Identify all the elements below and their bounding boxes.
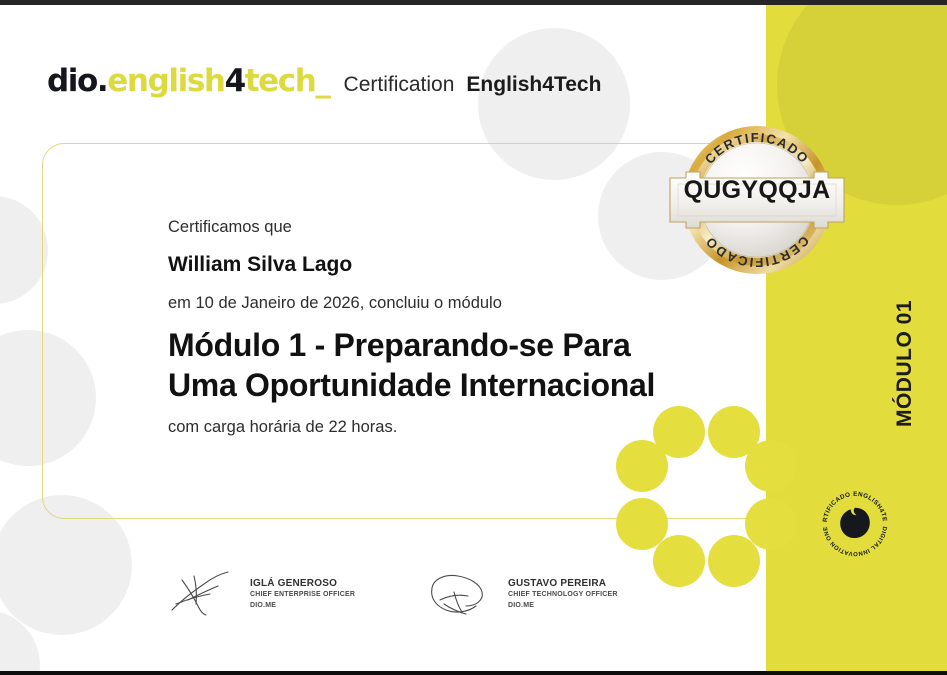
module-title: Módulo 1 - Preparando-se Para Uma Oportu…	[168, 325, 698, 406]
certification-stamp-icon: CERTIFICADO ENGLISH4TECH DIGITAL INNOVAT…	[818, 487, 892, 561]
signatory-org: DIO.ME	[250, 601, 355, 612]
decorative-dot	[745, 498, 797, 550]
intro-line: Certificamos que	[168, 218, 698, 237]
signatory-role: CHIEF TECHNOLOGY OFFICER	[508, 590, 618, 601]
signature-mark-icon	[166, 566, 242, 622]
brand-name: English4Tech	[466, 73, 601, 97]
signature-mark-icon	[424, 566, 500, 622]
certificate-body: Certificamos que William Silva Lago em 1…	[168, 218, 698, 437]
signatory-name: GUSTAVO PEREIRA	[508, 577, 618, 591]
decorative-circle	[0, 196, 48, 304]
gold-seal: CERTIFICADO CERTIFICADO QUGYQQJA	[664, 104, 850, 276]
bottom-edge-bar	[0, 671, 947, 675]
signatory-org: DIO.ME	[508, 601, 618, 612]
logo-english-text: english	[107, 63, 224, 99]
certification-label: Certification	[344, 73, 455, 97]
gold-seal-graphic: CERTIFICADO CERTIFICADO	[664, 104, 850, 276]
signatory-name: IGLÁ GENEROSO	[250, 577, 355, 591]
signature-block: IGLÁ GENEROSO CHIEF ENTERPRISE OFFICER D…	[166, 566, 355, 622]
top-edge-bar	[0, 0, 947, 5]
module-vertical-label: MÓDULO 01	[893, 300, 917, 427]
logo-tech-text: tech_	[245, 63, 330, 99]
workload-line: com carga horária de 22 horas.	[168, 418, 698, 437]
decorative-dot	[653, 535, 705, 587]
dio-logo: dio.english4tech_	[47, 66, 330, 97]
certificate-header: dio.english4tech_ Certification English4…	[47, 66, 601, 97]
decorative-dot	[745, 440, 797, 492]
signature-info: GUSTAVO PEREIRA CHIEF TECHNOLOGY OFFICER…	[508, 577, 618, 612]
logo-four-text: 4	[225, 63, 245, 99]
signature-block: GUSTAVO PEREIRA CHIEF TECHNOLOGY OFFICER…	[424, 566, 618, 622]
logo-dio-text: dio.	[47, 63, 107, 99]
student-name: William Silva Lago	[168, 253, 698, 277]
signature-info: IGLÁ GENEROSO CHIEF ENTERPRISE OFFICER D…	[250, 577, 355, 612]
certificate-canvas: MÓDULO 01 CERTIFICADO ENGLISH4TECH DIGIT…	[0, 0, 947, 675]
signatory-role: CHIEF ENTERPRISE OFFICER	[250, 590, 355, 601]
completion-date-line: em 10 de Janeiro de 2026, concluiu o mód…	[168, 294, 698, 313]
